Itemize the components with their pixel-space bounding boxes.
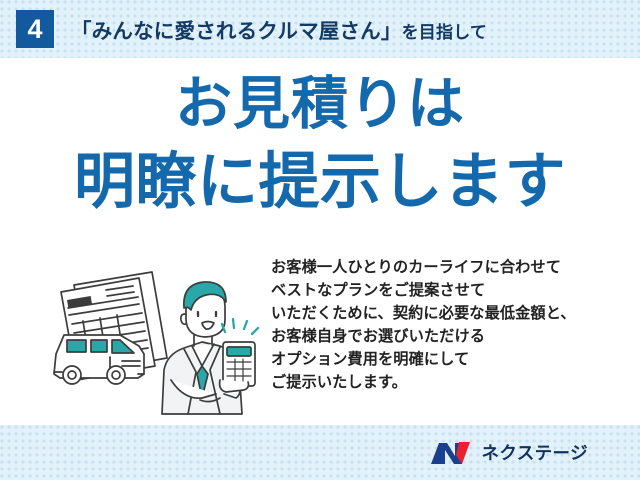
footer-content: ネクステージ — [0, 425, 640, 480]
advertisement-slide: 4 「みんなに愛されるクルマ屋さん」を目指して お見積りは 明瞭に提示します — [0, 0, 640, 480]
sparkle-icon — [222, 319, 258, 334]
body-copy-line: お客様一人ひとりのカーライフに合わせて — [271, 256, 633, 279]
step-number-badge: 4 — [16, 10, 54, 48]
header-band: 4 「みんなに愛されるクルマ屋さん」を目指して — [0, 0, 640, 58]
body-copy-line: ご提示いたします。 — [271, 371, 633, 394]
brand-name: ネクステージ — [481, 440, 588, 465]
van-illustration — [54, 335, 144, 384]
body-copy-line: いただくために、契約に必要な最低金額と、 — [271, 302, 633, 325]
body-copy-line: ベストなプランをご提案させて — [271, 279, 633, 302]
header-content: 4 「みんなに愛されるクルマ屋さん」を目指して — [0, 0, 640, 58]
body-copy: お客様一人ひとりのカーライフに合わせて ベストなプランをご提案させて いただくた… — [271, 256, 633, 394]
headline-line-2: 明瞭に提示します — [0, 151, 640, 212]
body-copy-line: お客様自身でお選びいただける — [271, 325, 633, 348]
footer-band: ネクステージ — [0, 425, 640, 480]
header-title: 「みんなに愛されるクルマ屋さん」を目指して — [71, 14, 487, 44]
calculator-illustration — [220, 342, 255, 392]
header-title-quoted: 「みんなに愛されるクルマ屋さん」 — [71, 20, 402, 43]
headline-line-1: お見積りは — [0, 76, 640, 133]
body-copy-line: オプション費用を明確にして — [271, 348, 633, 371]
nextage-logo-icon — [430, 440, 472, 466]
brand-lockup: ネクステージ — [430, 440, 588, 466]
headline: お見積りは 明瞭に提示します — [0, 76, 640, 212]
illustration-salesman-estimate — [34, 262, 266, 422]
header-title-tail: を目指して — [402, 23, 488, 42]
